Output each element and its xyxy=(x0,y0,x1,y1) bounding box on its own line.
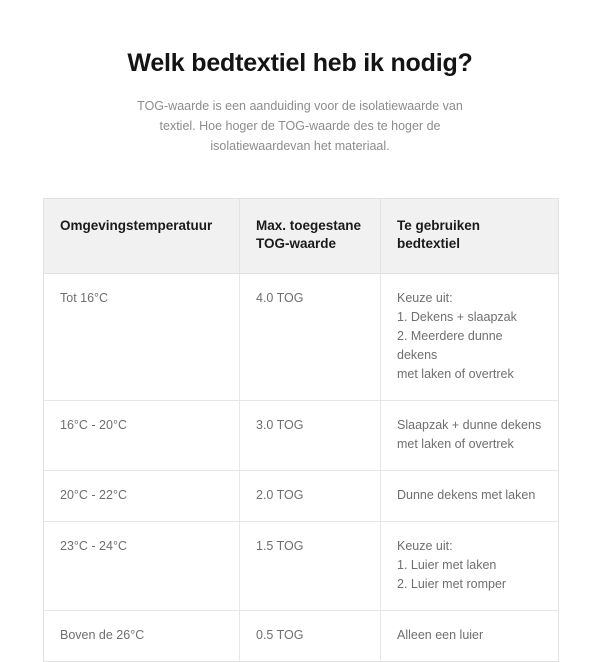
cell-bedding: Keuze uit:1. Luier met laken2. Luier met… xyxy=(381,522,559,611)
column-header-bedding-line: bedtextiel xyxy=(397,235,542,253)
cell-temperature: Tot 16°C xyxy=(44,274,240,401)
page-title: Welk bedtextiel heb ik nodig? xyxy=(0,47,600,79)
cell-bedding: Alleen een luier xyxy=(381,611,559,662)
cell-bedding-line: Keuze uit: xyxy=(397,289,542,308)
table-row: 16°C - 20°C3.0 TOGSlaapzak + dunne deken… xyxy=(44,401,559,471)
page-subtitle: TOG-waarde is een aanduiding voor de iso… xyxy=(135,96,465,156)
tog-table-container: Omgevingstemperatuur Max. toegestaneTOG-… xyxy=(43,198,558,662)
cell-bedding-line: Slaapzak + dunne dekens xyxy=(397,416,542,435)
header-block: Welk bedtextiel heb ik nodig? TOG-waarde… xyxy=(0,0,600,156)
column-header-temperature-line: Omgevingstemperatuur xyxy=(60,217,223,235)
cell-bedding-line: 2. Luier met romper xyxy=(397,575,542,594)
column-header-temperature-lines: Omgevingstemperatuur xyxy=(60,217,223,235)
cell-bedding-line: met laken of overtrek xyxy=(397,435,542,454)
column-header-bedding-lines: Te gebruikenbedtextiel xyxy=(397,217,542,253)
cell-temperature: 16°C - 20°C xyxy=(44,401,240,471)
table-row: Tot 16°C4.0 TOGKeuze uit:1. Dekens + sla… xyxy=(44,274,559,401)
cell-bedding: Dunne dekens met laken xyxy=(381,471,559,522)
cell-bedding-line: Dunne dekens met laken xyxy=(397,486,542,505)
cell-bedding-line: Alleen een luier xyxy=(397,626,542,645)
table-row: 20°C - 22°C2.0 TOGDunne dekens met laken xyxy=(44,471,559,522)
table-header: Omgevingstemperatuur Max. toegestaneTOG-… xyxy=(44,199,559,274)
column-header-temperature: Omgevingstemperatuur xyxy=(44,199,240,274)
cell-bedding-line: Keuze uit: xyxy=(397,537,542,556)
cell-temperature: 23°C - 24°C xyxy=(44,522,240,611)
cell-tog-value: 2.0 TOG xyxy=(240,471,381,522)
cell-bedding-line: 2. Meerdere dunne dekens xyxy=(397,327,542,365)
column-header-tog-line: Max. toegestane xyxy=(256,217,364,235)
column-header-tog-lines: Max. toegestaneTOG-waarde xyxy=(256,217,364,253)
cell-tog-value: 1.5 TOG xyxy=(240,522,381,611)
cell-tog-value: 4.0 TOG xyxy=(240,274,381,401)
table-header-row: Omgevingstemperatuur Max. toegestaneTOG-… xyxy=(44,199,559,274)
cell-bedding-lines: Alleen een luier xyxy=(397,626,542,645)
column-header-bedding-line: Te gebruiken xyxy=(397,217,542,235)
table-row: Boven de 26°C0.5 TOGAlleen een luier xyxy=(44,611,559,662)
cell-bedding-line: 1. Dekens + slaapzak xyxy=(397,308,542,327)
cell-bedding-line: met laken of overtrek xyxy=(397,365,542,384)
cell-temperature: Boven de 26°C xyxy=(44,611,240,662)
column-header-bedding: Te gebruikenbedtextiel xyxy=(381,199,559,274)
cell-tog-value: 0.5 TOG xyxy=(240,611,381,662)
column-header-tog-line: TOG-waarde xyxy=(256,235,364,253)
table-body: Tot 16°C4.0 TOGKeuze uit:1. Dekens + sla… xyxy=(44,274,559,662)
cell-tog-value: 3.0 TOG xyxy=(240,401,381,471)
cell-bedding-lines: Keuze uit:1. Luier met laken2. Luier met… xyxy=(397,537,542,594)
table-row: 23°C - 24°C1.5 TOGKeuze uit:1. Luier met… xyxy=(44,522,559,611)
cell-bedding: Slaapzak + dunne dekensmet laken of over… xyxy=(381,401,559,471)
cell-bedding-lines: Dunne dekens met laken xyxy=(397,486,542,505)
cell-bedding-line: 1. Luier met laken xyxy=(397,556,542,575)
tog-table: Omgevingstemperatuur Max. toegestaneTOG-… xyxy=(43,198,559,662)
column-header-tog: Max. toegestaneTOG-waarde xyxy=(240,199,381,274)
cell-bedding: Keuze uit:1. Dekens + slaapzak2. Meerder… xyxy=(381,274,559,401)
page-root: Welk bedtextiel heb ik nodig? TOG-waarde… xyxy=(0,0,600,600)
cell-temperature: 20°C - 22°C xyxy=(44,471,240,522)
cell-bedding-lines: Slaapzak + dunne dekensmet laken of over… xyxy=(397,416,542,454)
cell-bedding-lines: Keuze uit:1. Dekens + slaapzak2. Meerder… xyxy=(397,289,542,384)
